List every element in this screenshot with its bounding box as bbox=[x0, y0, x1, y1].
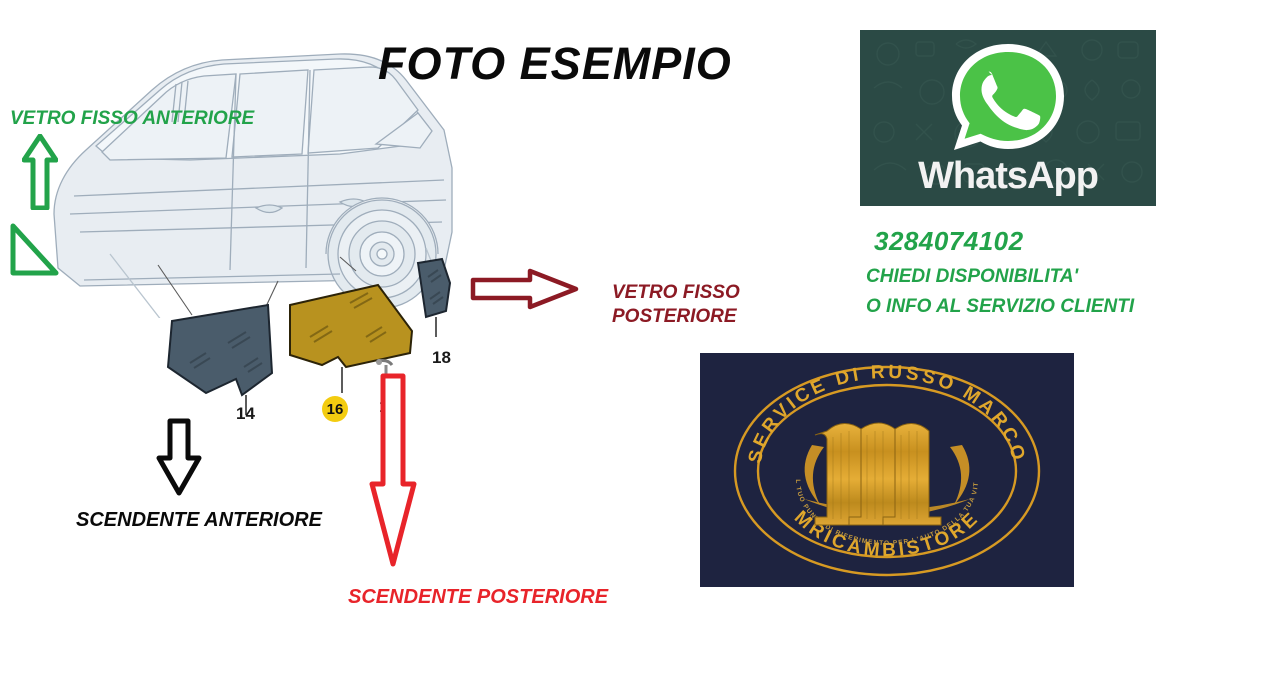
whatsapp-wordmark: WhatsApp bbox=[860, 155, 1156, 198]
triangle-green-icon bbox=[8, 222, 60, 278]
whatsapp-banner: WhatsApp bbox=[860, 30, 1156, 206]
label-vetro-fisso-posteriore: VETRO FISSO POSTERIORE bbox=[612, 281, 740, 330]
label-scendente-anteriore: SCENDENTE ANTERIORE bbox=[76, 509, 322, 531]
part-number-14: 14 bbox=[236, 404, 255, 424]
shop-logo-emblem: SERVICE DI RUSSO MARCO MRICAMBISTORE IL … bbox=[700, 353, 1074, 587]
shop-logo: SERVICE DI RUSSO MARCO MRICAMBISTORE IL … bbox=[700, 353, 1074, 587]
label-scendente-posteriore: SCENDENTE POSTERIORE bbox=[348, 586, 608, 608]
arrow-right-darkred-icon bbox=[470, 268, 580, 310]
arrow-down-red-icon bbox=[368, 372, 418, 568]
whatsapp-phone-icon bbox=[946, 38, 1070, 154]
contact-phone-number[interactable]: 3284074102 bbox=[874, 226, 1024, 257]
arrow-down-black-icon bbox=[156, 418, 202, 496]
page-title: FOTO ESEMPIO bbox=[378, 38, 732, 90]
arrow-up-green-icon bbox=[22, 134, 58, 210]
label-vetro-fisso-anteriore: VETRO FISSO ANTERIORE bbox=[10, 108, 254, 129]
part-number-16: 16 bbox=[322, 396, 348, 422]
contact-line-1: CHIEDI DISPONIBILITA' bbox=[866, 266, 1078, 288]
part-number-16-label: 16 bbox=[327, 401, 344, 418]
part-number-18: 18 bbox=[432, 348, 451, 368]
contact-line-2: O INFO AL SERVIZIO CLIENTI bbox=[866, 296, 1134, 318]
glass-parts-diagram bbox=[150, 255, 480, 445]
